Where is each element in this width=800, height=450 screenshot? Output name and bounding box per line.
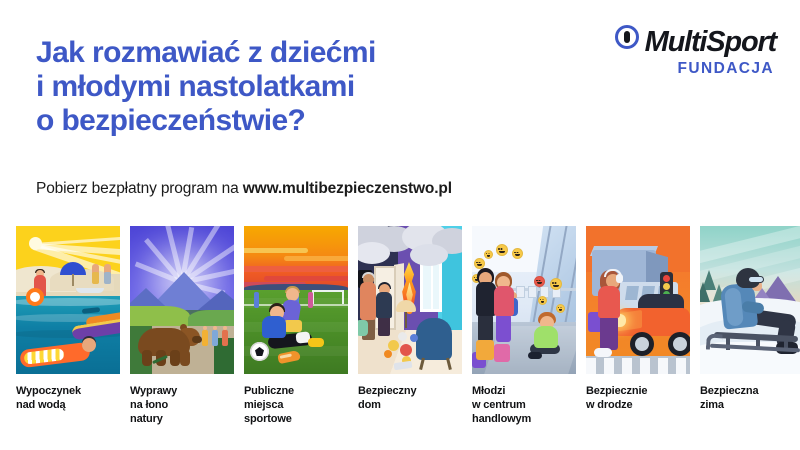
headline-line-2: i młodymi nastolatkami (36, 70, 576, 104)
label-line: Publiczne (244, 385, 294, 397)
pedestrian-shoe (594, 348, 612, 357)
toy (384, 350, 392, 358)
boat (76, 288, 104, 293)
topic-card-publiczne-miejsca-sportowe[interactable] (244, 226, 348, 374)
website-url[interactable]: www.multibezpieczenstwo.pl (243, 180, 452, 197)
label-line: Bezpiecznie (586, 385, 647, 397)
pedestrian-body (598, 286, 620, 318)
scene-football-pitch-injury (244, 226, 348, 374)
scene-mall-bullying-emoji (472, 226, 576, 374)
umbrella-pole (72, 274, 74, 286)
cloud-band (244, 248, 308, 253)
hiker (202, 326, 208, 346)
sun-icon (29, 237, 42, 250)
emoji-face-icon (484, 250, 493, 259)
goal-icon (312, 290, 344, 304)
scene-street-crossing-traffic (586, 226, 690, 374)
subline-prefix: Pobierz bezpłatny program na (36, 180, 243, 197)
shop-window (528, 286, 537, 298)
multisport-fundacja-logo[interactable]: MultiSport FUNDACJA (566, 26, 776, 90)
cloud-band (284, 256, 348, 261)
download-instruction: Pobierz bezpłatny program na www.multibe… (36, 180, 452, 198)
topic-label-wyprawy-na-lono-natury: Wyprawy na łono natury (130, 384, 234, 426)
topic-card-bezpieczny-dom[interactable] (358, 226, 462, 374)
label-line: Bezpieczny (358, 385, 416, 397)
label-line: Wypoczynek (16, 385, 81, 397)
pedestrian-leg (600, 316, 618, 350)
logo-wordmark: MultiSport (645, 26, 776, 58)
topic-card-strip (16, 226, 788, 376)
teen-body (476, 282, 496, 316)
logo-row: MultiSport (566, 26, 776, 58)
football-boot (308, 338, 324, 347)
bear-snout (192, 336, 202, 343)
topic-card-bezpiecznie-w-drodze[interactable] (586, 226, 690, 374)
label-line: Bezpieczna (700, 385, 758, 397)
label-line: na łono (130, 399, 168, 411)
hiker (222, 326, 228, 346)
teen-body (494, 286, 514, 316)
emoji-angry-icon (534, 276, 545, 287)
topic-label-bezpieczna-zima: Bezpieczna zima (700, 384, 800, 426)
label-line: nad wodą (16, 399, 66, 411)
topic-card-mlodzi-w-centrum-handlowym[interactable] (472, 226, 576, 374)
emoji-face-icon (556, 304, 565, 313)
football-icon (250, 342, 269, 361)
topic-label-mlodzi-w-centrum-handlowym: Młodzi w centrum handlowym (472, 384, 576, 426)
label-line: sportowe (244, 413, 292, 425)
multisport-circle-icon (615, 25, 639, 49)
emoji-face-icon (496, 244, 508, 256)
car-wheel (668, 332, 690, 356)
label-line: w centrum (472, 399, 526, 411)
distant-player (308, 292, 313, 308)
child-leg (378, 316, 390, 336)
label-line: natury (130, 413, 163, 425)
cloud-band (244, 266, 348, 272)
topic-label-wypoczynek-nad-woda: Wypoczynek nad wodą (16, 384, 120, 426)
topic-card-wypoczynek-nad-woda[interactable] (16, 226, 120, 374)
injured-player-body (262, 316, 286, 338)
scene-beach-lifeguard-surfboards (16, 226, 120, 374)
hiker (212, 326, 218, 346)
emoji-face-icon (538, 296, 547, 305)
shopping-bag-icon (476, 340, 494, 360)
window-icon (420, 262, 442, 312)
topic-label-publiczne-miejsca-sportowe: Publiczne miejsca sportowe (244, 384, 348, 426)
adult-body (360, 282, 376, 320)
toy (400, 344, 412, 356)
child-body (376, 292, 392, 318)
helper-shorts (284, 320, 302, 332)
scene-winter-sledding (700, 226, 800, 374)
shoe (528, 352, 542, 359)
bus-window (625, 286, 639, 300)
shop-window (516, 286, 525, 298)
headphone-cup (616, 274, 623, 283)
beachgoer (104, 264, 111, 284)
logo-subtitle: FUNDACJA (566, 60, 776, 78)
armchair-icon (416, 318, 452, 360)
teen-leg (496, 314, 511, 342)
toddler (358, 320, 368, 336)
traffic-light-yellow (663, 283, 670, 290)
label-line: Młodzi (472, 385, 505, 397)
bear-leg (170, 350, 180, 366)
label-line: dom (358, 399, 381, 411)
topic-card-bezpieczna-zima[interactable] (700, 226, 800, 374)
label-line: zima (700, 399, 724, 411)
goggles-icon (748, 276, 764, 283)
label-line: miejsca (244, 399, 283, 411)
topic-label-bezpieczny-dom: Bezpieczny dom (358, 384, 462, 426)
headline-line-1: Jak rozmawiać z dziećmi (36, 36, 576, 70)
cloud-band (264, 276, 348, 281)
page-title: Jak rozmawiać z dziećmi i młodymi nastol… (36, 36, 576, 138)
bear-leg (142, 350, 152, 366)
label-line: handlowym (472, 413, 531, 425)
swimmer (82, 338, 96, 352)
lamp-stand (405, 312, 407, 328)
header: Jak rozmawiać z dziećmi i młodymi nastol… (0, 0, 800, 210)
toy (388, 340, 399, 351)
label-line: w drodze (586, 399, 632, 411)
topic-label-row: Wypoczynek nad wodą Wyprawy na łono natu… (16, 384, 788, 426)
distant-player (254, 292, 259, 308)
toy (398, 332, 407, 341)
toy (410, 334, 418, 342)
emoji-face-icon (512, 248, 523, 259)
headline-line-3: o bezpieczeństwie? (36, 104, 576, 138)
bear-leg (180, 350, 190, 366)
beachgoer (92, 264, 99, 284)
sad-boy-body (534, 326, 558, 348)
scene-mountain-bear-hikers (130, 226, 234, 374)
shopping-bag-icon (494, 344, 510, 362)
pine-tree-icon (700, 282, 710, 302)
scene-house-fire-evacuation (358, 226, 462, 374)
life-ring-icon (26, 288, 44, 306)
topic-card-wyprawy-na-lono-natury[interactable] (130, 226, 234, 374)
car-wheel (630, 332, 654, 356)
topic-label-bezpiecznie-w-drodze: Bezpiecznie w drodze (586, 384, 690, 426)
smoke-cloud-icon (410, 244, 448, 266)
crosswalk-icon (586, 358, 690, 374)
label-line: Wyprawy (130, 385, 177, 397)
teen-leg (478, 314, 493, 342)
emoji-face-icon (550, 278, 562, 290)
traffic-light-red (663, 275, 670, 282)
